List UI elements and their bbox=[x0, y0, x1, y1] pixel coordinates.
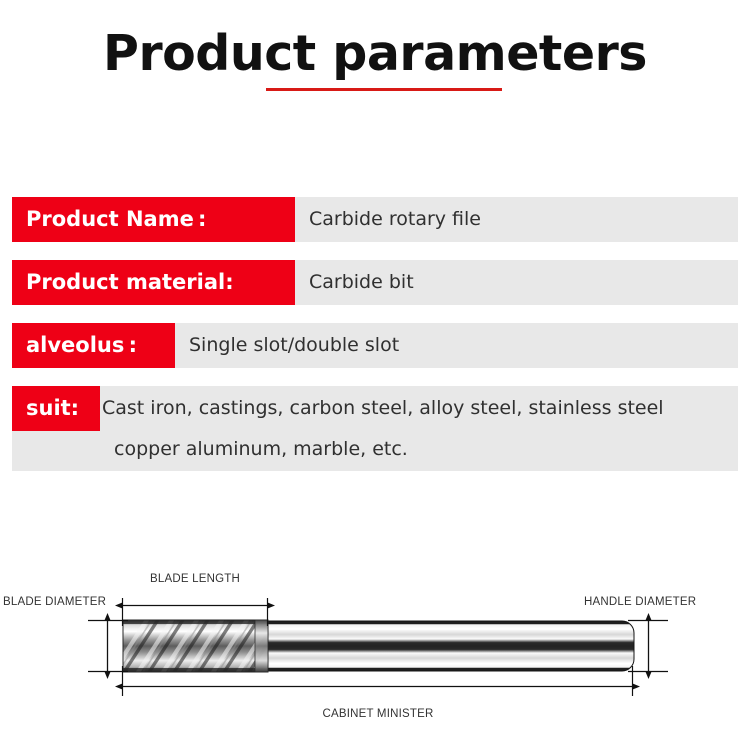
spec-row-alveolus: alveolus : Single slot/double slot bbox=[12, 323, 738, 368]
dimension-total-length: CABINET MINISTER bbox=[123, 666, 633, 720]
spec-label-product-name: Product Name : bbox=[12, 197, 295, 242]
page-header: Product parameters bbox=[0, 28, 750, 79]
product-dimension-diagram: BLADE LENGTH BLADE DIAMETER HANDLE DIAME… bbox=[0, 548, 750, 737]
spec-row-suit: suit: Cast iron, castings, carbon steel,… bbox=[12, 386, 738, 471]
tool-shank-graphic bbox=[262, 621, 634, 671]
spec-value-alveolus: Single slot/double slot bbox=[175, 323, 738, 368]
spec-value-suit-line-1: Cast iron, castings, carbon steel, alloy… bbox=[100, 388, 738, 429]
spec-row-product-material: Product material: Carbide bit bbox=[12, 260, 738, 305]
spec-label-alveolus: alveolus : bbox=[12, 323, 175, 368]
spec-row-product-name: Product Name : Carbide rotary file bbox=[12, 197, 738, 242]
product-parameters-list: Product Name : Carbide rotary file Produ… bbox=[12, 197, 738, 489]
dimension-label-blade-diameter: BLADE DIAMETER bbox=[3, 596, 106, 608]
spec-value-suit-line-2: copper aluminum, marble, etc. bbox=[100, 429, 738, 470]
page-title: Product parameters bbox=[0, 28, 750, 79]
spec-value-product-name: Carbide rotary file bbox=[295, 197, 738, 242]
dimension-blade-length: BLADE LENGTH bbox=[123, 573, 268, 626]
spec-value-product-material: Carbide bit bbox=[295, 260, 738, 305]
spec-value-suit: Cast iron, castings, carbon steel, alloy… bbox=[100, 386, 738, 470]
dimension-label-handle-diameter: HANDLE DIAMETER bbox=[584, 596, 696, 608]
dimension-label-total-length: CABINET MINISTER bbox=[323, 708, 434, 720]
dimension-label-blade-length: BLADE LENGTH bbox=[150, 573, 240, 585]
title-underline-rule bbox=[266, 88, 502, 91]
spec-label-suit: suit: bbox=[12, 386, 100, 431]
dimension-blade-diameter: BLADE DIAMETER bbox=[3, 596, 128, 672]
spec-label-product-material: Product material: bbox=[12, 260, 295, 305]
